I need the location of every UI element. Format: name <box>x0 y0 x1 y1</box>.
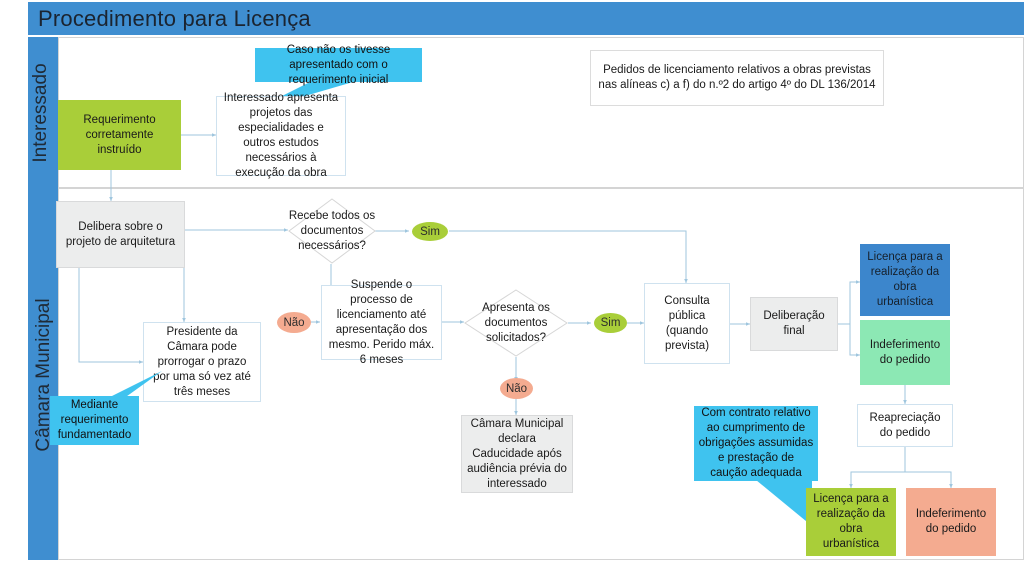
decision-apresenta-documentos[interactable]: Apresenta os documentos solicitados? <box>464 289 568 357</box>
node-projetos-especialidades[interactable]: Interessado apresenta projetos das espec… <box>216 96 346 176</box>
node-indeferimento-pedido[interactable]: Indeferimento do pedido <box>860 320 950 385</box>
flowchart-canvas: Procedimento para Licença Interessado Câ… <box>0 0 1024 564</box>
node-licenca-obra-urbanistica[interactable]: Licença para a realização da obra urbaní… <box>860 244 950 316</box>
label-nao-apresenta: Não <box>500 378 533 399</box>
decision-recebe-documentos[interactable]: Recebe todos os documentos necessários? <box>288 198 376 264</box>
node-licenca-obra-urbanistica-2[interactable]: Licença para a realização da obra urbaní… <box>806 488 896 556</box>
node-indeferimento-pedido-2[interactable]: Indeferimento do pedido <box>906 488 996 556</box>
node-delibera-arquitetura[interactable]: Delibera sobre o projeto de arquitetura <box>56 201 185 268</box>
node-consulta-publica[interactable]: Consulta pública (quando prevista) <box>644 283 730 364</box>
page-title: Procedimento para Licença <box>38 3 638 34</box>
lane-label-interessado: Interessado <box>30 51 48 175</box>
node-declara-caducidade[interactable]: Câmara Municipal declara Caducidade após… <box>461 415 573 493</box>
label-sim-apresenta: Sim <box>594 313 627 333</box>
callout-prorrogacao: Mediante requerimento fundamentado <box>50 396 139 445</box>
decision-apresenta-documentos-label: Apresenta os documentos solicitados? <box>464 289 568 357</box>
node-reapreciacao-pedido[interactable]: Reapreciação do pedido <box>857 404 953 447</box>
label-sim-recebe: Sim <box>412 222 448 241</box>
node-deliberacao-final[interactable]: Deliberação final <box>750 297 838 351</box>
decision-recebe-documentos-label: Recebe todos os documentos necessários? <box>280 198 384 264</box>
callout-contrato: Com contrato relativo ao cumprimento de … <box>694 406 818 481</box>
callout-projetos: Caso não os tivesse apresentado com o re… <box>255 48 422 82</box>
label-nao-recebe: Não <box>277 312 311 333</box>
node-requerimento[interactable]: Requerimento corretamente instruído <box>58 100 181 170</box>
node-suspende-processo[interactable]: Suspende o processo de licenciamento até… <box>321 285 442 360</box>
note-legal-reference: Pedidos de licenciamento relativos a obr… <box>590 50 884 106</box>
